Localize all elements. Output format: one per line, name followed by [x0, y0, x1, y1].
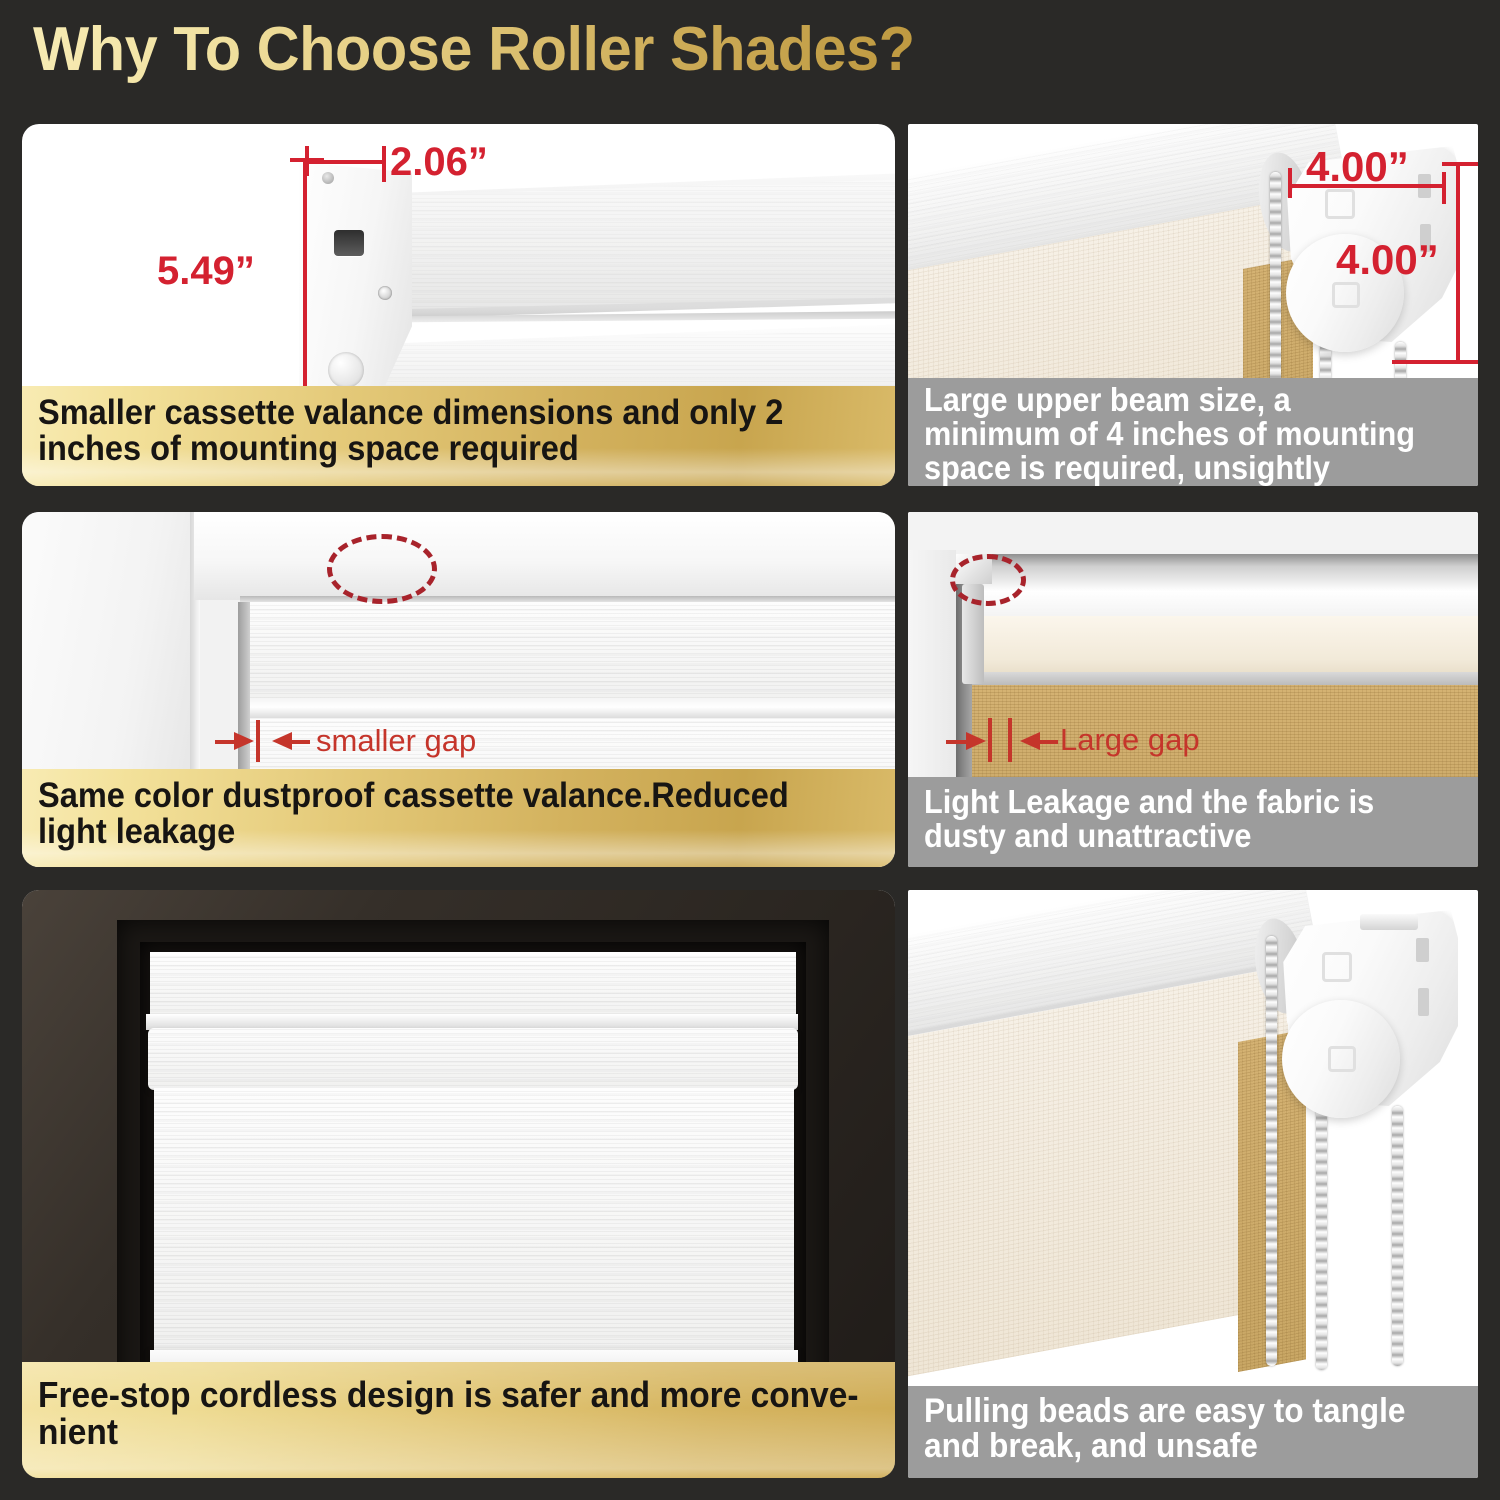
beam-width-tick-left [1288, 168, 1292, 198]
caption-line: Free-stop cordless design is safer and m… [38, 1376, 822, 1413]
panel-4-caption: Light Leakage and the fabric is dusty an… [908, 777, 1478, 867]
caption-line: minimum of 4 inches of mounting [924, 417, 1426, 451]
valance-face-cream [968, 616, 1478, 678]
bead-chain-loop-rear [1392, 1106, 1403, 1366]
panel-1-caption: Smaller cassette valance dimensions and … [22, 386, 895, 486]
large-gap-arrow-stem-left [946, 740, 968, 744]
valance-bottom-edge [968, 672, 1478, 686]
beads-bracket-emboss-lower [1328, 1046, 1356, 1072]
beam-height-dimension-label: 4.00” [1336, 236, 1439, 284]
light-leakage-dashed-circle [950, 554, 1026, 606]
end-cap-screw [378, 286, 392, 300]
caption-line: Large upper beam size, a [924, 383, 1426, 417]
caption-line: inches of mounting space required [38, 431, 822, 467]
end-cap-knob-lower [328, 352, 364, 388]
caption-line: Light Leakage and the fabric is [924, 785, 1426, 819]
beam-height-tick-bottom [1392, 360, 1478, 364]
height-dimension-tick-top [290, 158, 324, 162]
panel-light-leakage: Large gap Light Leakage and the fabric i… [908, 512, 1478, 867]
gap-arrow-left-head [272, 732, 292, 750]
bracket-emboss-lower [1332, 282, 1360, 308]
cordless-shade-fabric [154, 1088, 794, 1356]
large-gap-marker-bar-b [1008, 718, 1012, 762]
page-title: Why To Choose Roller Shades? [33, 14, 915, 85]
panel-smaller-cassette: 2.06” 5.49” Smaller cassette valance dim… [22, 124, 895, 486]
caption-line: and break, and unsafe [924, 1429, 1426, 1464]
window-head-casing [194, 512, 895, 600]
beads-bracket-slot-middle [1418, 988, 1429, 1016]
bracket-emboss-upper [1325, 189, 1355, 219]
panel-pulling-beads: Pulling beads are easy to tangle and bre… [908, 890, 1478, 1478]
beads-bracket-slot-top [1416, 938, 1429, 962]
width-dimension-label: 2.06” [390, 140, 488, 185]
panel-cordless-design: Free-stop cordless design is safer and m… [22, 890, 895, 1478]
gap-arrow-stem-right [290, 740, 310, 744]
panel-dustproof-valance: smaller gap Same color dustproof cassett… [22, 512, 895, 867]
caption-line: Same color dustproof cassette valance.Re… [38, 778, 822, 814]
bead-chain-loop-front [1266, 936, 1277, 1366]
height-dimension-label: 5.49” [157, 249, 255, 294]
caption-line: Smaller cassette valance dimensions and … [38, 395, 822, 431]
large-gap-arrow-right-head [966, 732, 986, 750]
beam-width-tick-right [1442, 172, 1446, 204]
caption-line: space is required, unsightly [924, 451, 1426, 485]
smaller-gap-label: smaller gap [316, 723, 476, 759]
panel-3-caption: Same color dustproof cassette valance.Re… [22, 769, 895, 867]
large-gap-arrow-stem-right [1038, 740, 1058, 744]
caption-line: Pulling beads are easy to tangle [924, 1394, 1426, 1429]
large-gap-arrow-left-head [1020, 732, 1040, 750]
caption-line: nient [38, 1413, 822, 1450]
panel-2-caption: Large upper beam size, a minimum of 4 in… [908, 378, 1478, 486]
large-gap-label: Large gap [1060, 722, 1200, 758]
panel-6-caption: Pulling beads are easy to tangle and bre… [908, 1386, 1478, 1478]
cassette-head-rail [244, 602, 895, 710]
beam-height-tick-top [1442, 162, 1478, 166]
head-rail-tube [956, 554, 1478, 622]
dustproof-gap-dashed-circle [327, 534, 437, 604]
panel-large-beam: 4.00” 4.00” Large upper beam size, a min… [908, 124, 1478, 486]
width-dimension-tick-right [382, 146, 386, 182]
rolled-fabric-bulge [148, 1028, 798, 1090]
head-rail-bottom-edge [244, 698, 895, 718]
beam-height-dimension-line [1456, 164, 1460, 364]
beam-width-dimension-label: 4.00” [1306, 143, 1409, 191]
bracket-top-tab [1360, 914, 1418, 930]
end-cap-screw-top [322, 172, 334, 184]
gap-arrow-right-head [234, 732, 254, 750]
beads-shade-fabric-cream [908, 966, 1288, 1380]
gap-marker-bar [256, 720, 260, 762]
wall-band-top [908, 512, 1478, 550]
beads-bracket-emboss-upper [1322, 952, 1352, 982]
panel-5-caption: Free-stop cordless design is safer and m… [22, 1362, 895, 1478]
large-gap-marker-bar-a [988, 718, 992, 762]
caption-line: dusty and unattractive [924, 819, 1426, 853]
caption-line: light leakage [38, 814, 822, 850]
